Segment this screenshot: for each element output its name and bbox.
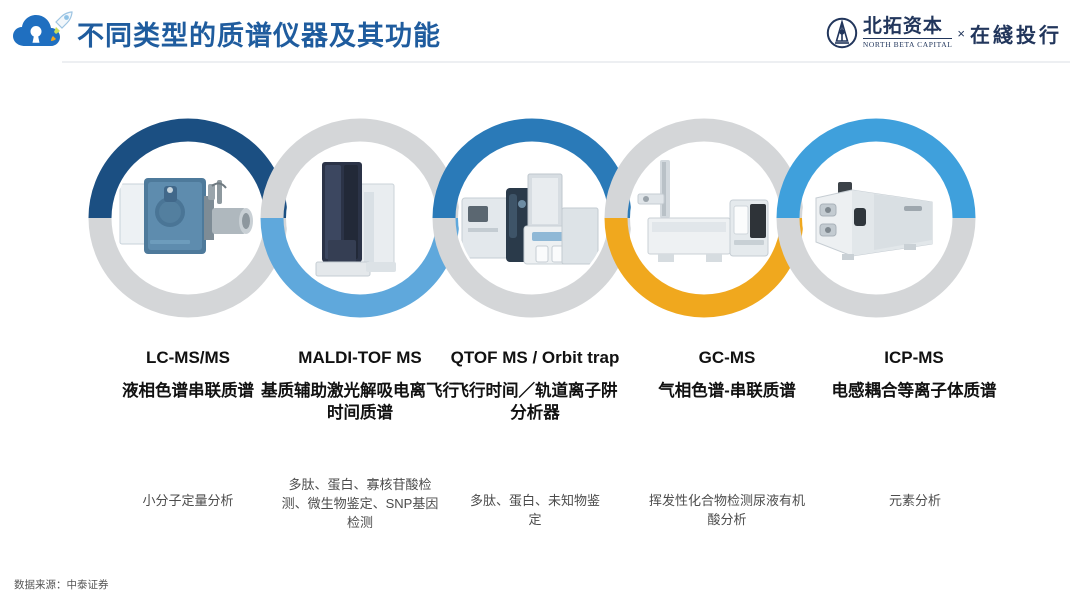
ring-cell-maldi-tof-ms [260, 118, 460, 318]
source-note: 数据来源：中泰证券 [14, 577, 109, 592]
ring-cell-qtof-ms-orbitrap [432, 118, 632, 318]
instrument-ring-row [0, 118, 1080, 318]
column-description: 多肽、蛋白、未知物鉴定 [465, 492, 605, 530]
column-cn-title: 基质辅助激光解吸电离飞行时间质谱 [256, 381, 464, 425]
page-title: 不同类型的质谱仪器及其功能 [77, 14, 441, 53]
column-en-title: GC-MS [628, 348, 826, 369]
column-gc-ms: GC-MS 气相色谱-串联质谱 [628, 348, 826, 403]
column-icp-ms: ICP-MS 电感耦合等离子体质谱 [828, 348, 1000, 403]
logo-chinese-name: 北拓资本 [863, 17, 953, 36]
ring-cell-lc-ms-ms [88, 118, 288, 318]
page-header: 不同类型的质谱仪器及其功能 北拓资本 NORTH BETA CAPITAL × … [0, 0, 1080, 63]
cloud-rocket-icon [11, 10, 77, 54]
column-description: 小分子定量分析 [95, 492, 281, 511]
gc-ms-instrument-photo [630, 144, 778, 292]
header-divider [62, 61, 1070, 63]
column-cn-title: 气相色谱-串联质谱 [628, 381, 826, 403]
column-description: 多肽、蛋白、寡核苷酸检测、微生物鉴定、SNP基因检测 [277, 476, 443, 533]
ring-cell-gc-ms [604, 118, 804, 318]
logo-separator: × [957, 26, 965, 41]
icp-ms-instrument-photo [802, 144, 950, 292]
column-en-title: MALDI-TOF MS [256, 348, 464, 369]
logo-partner-name: 在綫投行 [970, 19, 1062, 48]
qtof-ms-orbitrap-instrument-photo [458, 144, 606, 292]
column-cn-title: 电感耦合等离子体质谱 [828, 381, 1000, 403]
column-maldi-tof-ms: MALDI-TOF MS 基质辅助激光解吸电离飞行时间质谱 [256, 348, 464, 424]
maldi-tof-ms-instrument-photo [286, 144, 434, 292]
column-en-title: ICP-MS [828, 348, 1000, 369]
column-description: 挥发性化合物检测尿液有机酸分析 [648, 492, 806, 530]
lc-ms-ms-instrument-photo [114, 144, 262, 292]
north-beta-capital-emblem-icon [826, 17, 858, 49]
ring-cell-icp-ms [776, 118, 976, 318]
company-logo: 北拓资本 NORTH BETA CAPITAL × 在綫投行 [826, 12, 1062, 54]
instrument-label-row: LC-MS/MS 液相色谱串联质谱 小分子定量分析 MALDI-TOF MS 基… [0, 348, 1080, 548]
column-en-title: QTOF MS / Orbit trap [445, 348, 625, 369]
column-qtof-ms-orbitrap: QTOF MS / Orbit trap 飞行时间／轨道离子阱分析器 [445, 348, 625, 424]
column-cn-title: 飞行时间／轨道离子阱分析器 [445, 381, 625, 425]
logo-english-name: NORTH BETA CAPITAL [863, 38, 953, 49]
column-description: 元素分析 [845, 492, 985, 511]
